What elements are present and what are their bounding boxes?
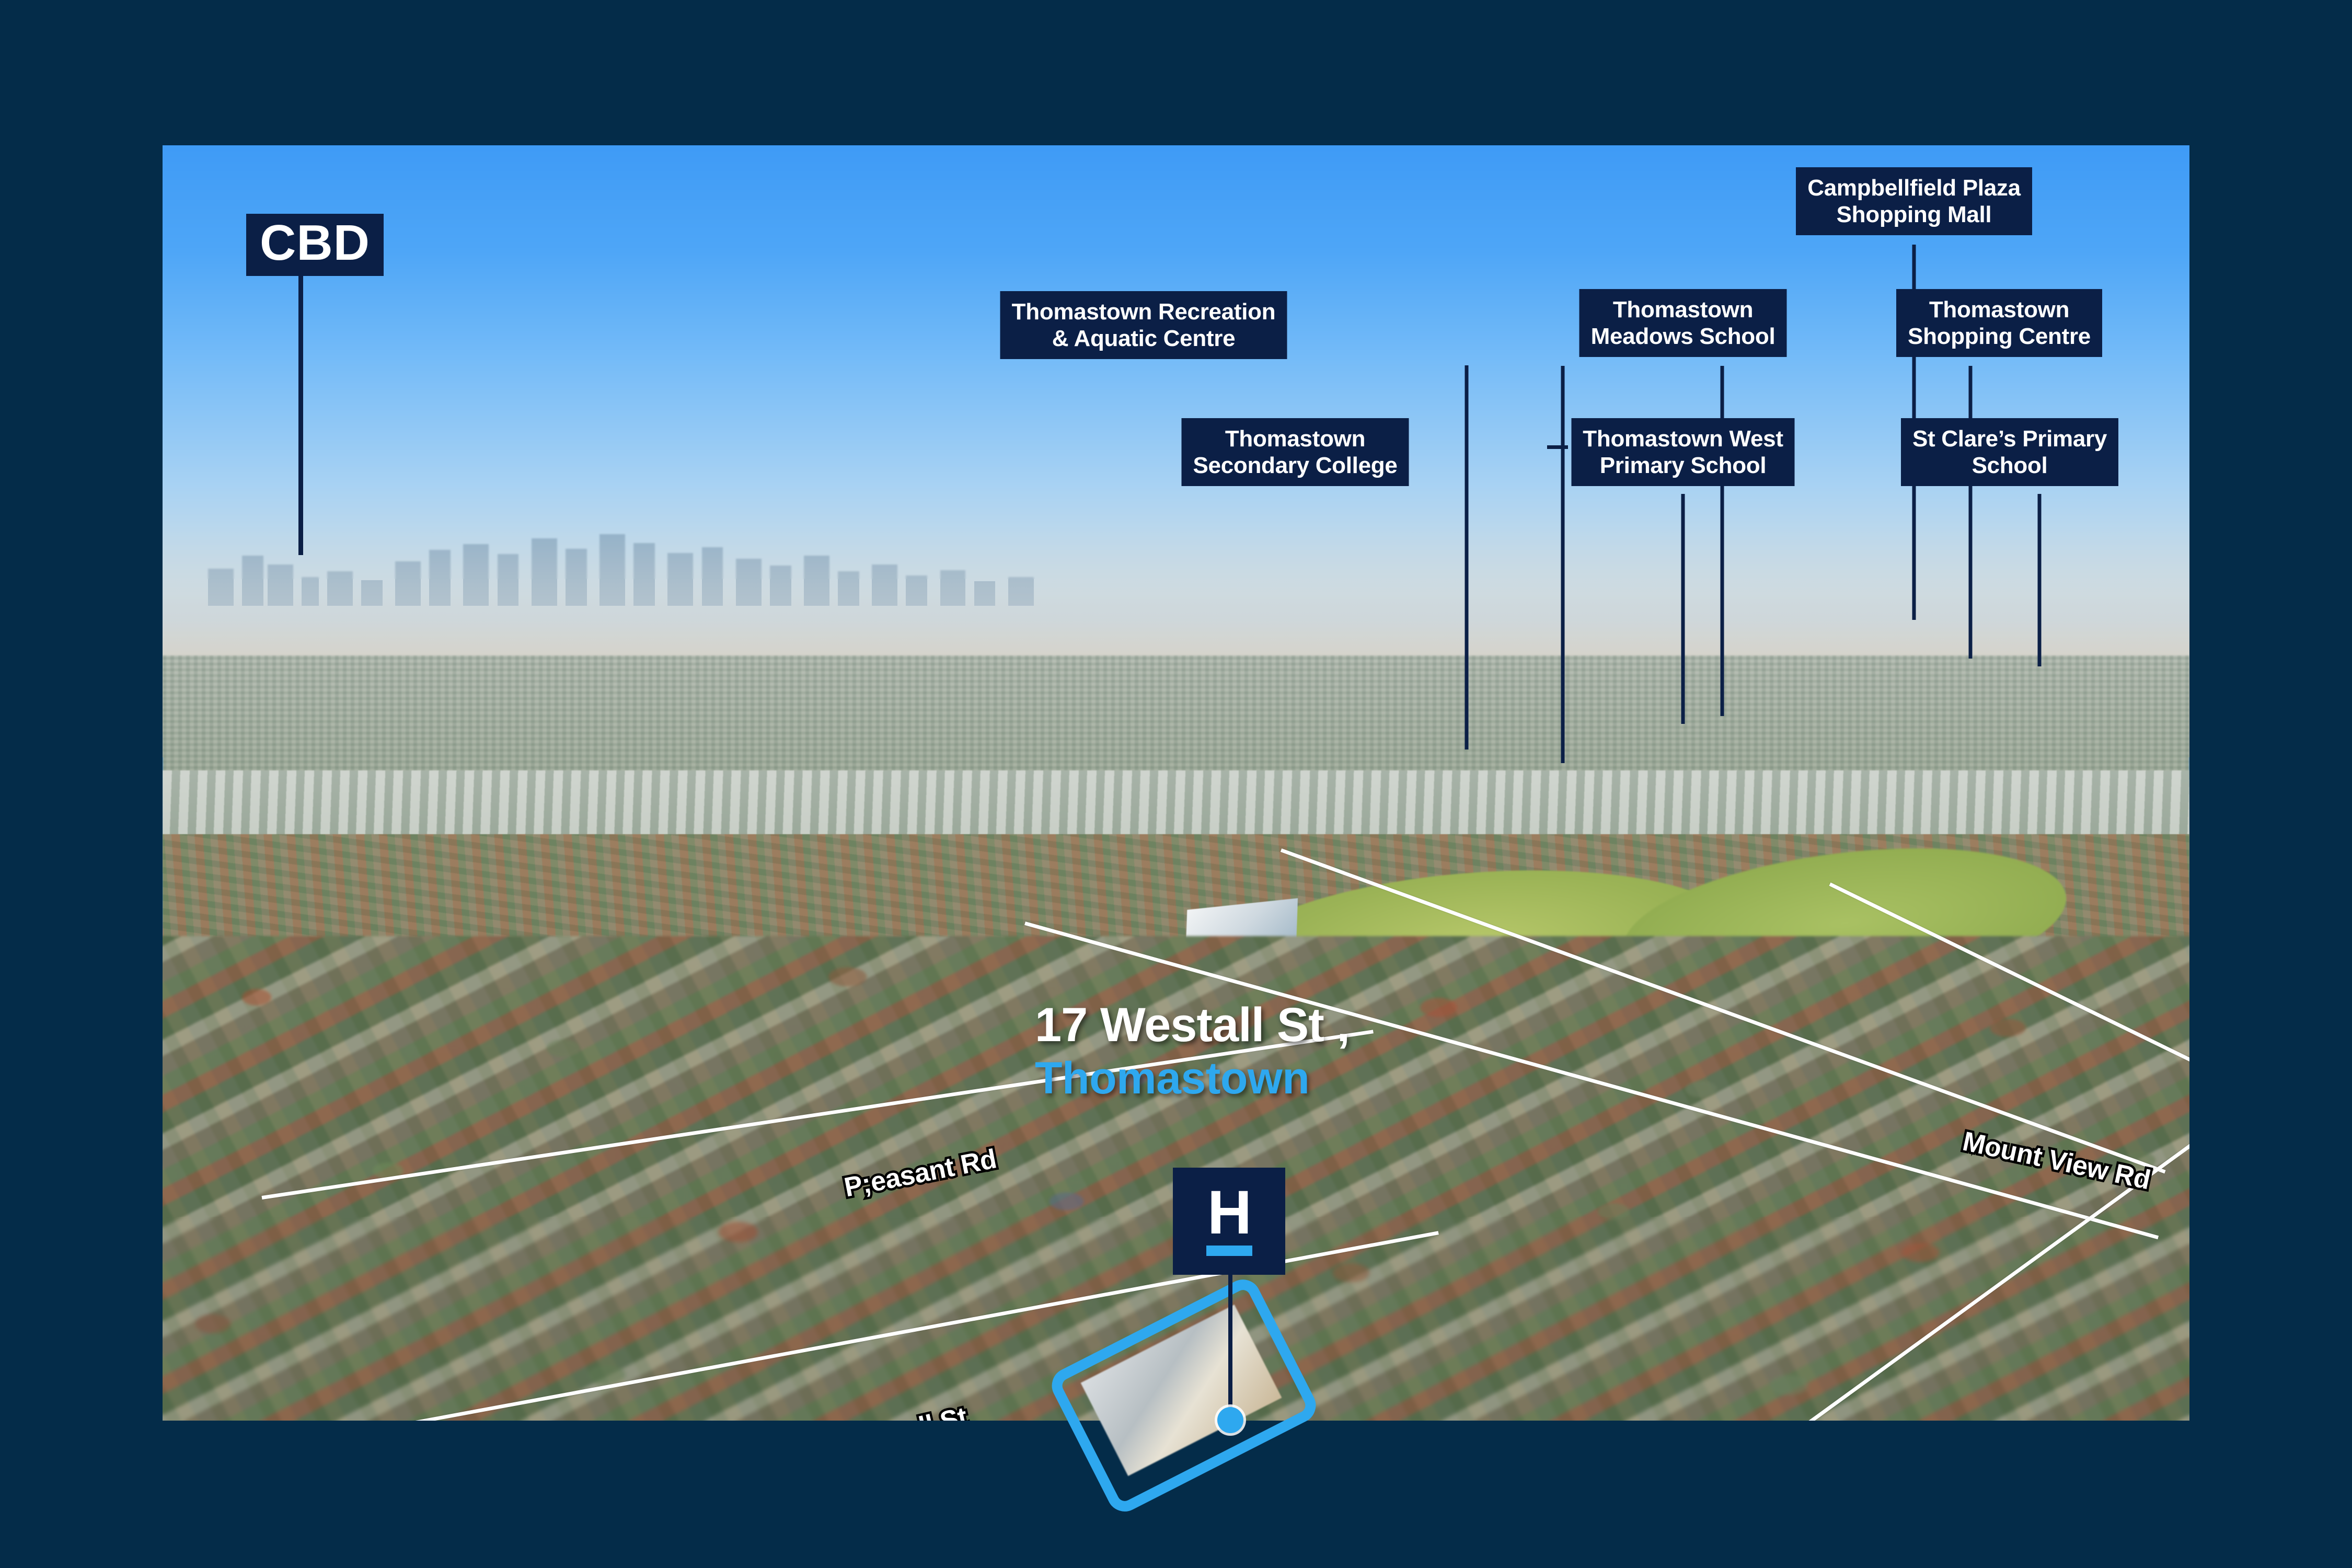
home-pin-dot <box>1217 1407 1243 1433</box>
property-suburb-line: Thomastown <box>1035 1053 1350 1103</box>
poi-label-thomastown-secondary-college[interactable]: Thomastown Secondary College <box>1181 418 1409 486</box>
property-address-line: 17 Westall St , <box>1035 1001 1350 1049</box>
outer-frame: P;easant RdChappell StMount View RdWesta… <box>0 0 2352 1568</box>
home-marker-letter: H <box>1207 1186 1251 1239</box>
poi-pin-stem <box>1969 366 1973 659</box>
poi-elbow-connector <box>1547 445 1568 449</box>
poi-pin-stem <box>1681 494 1685 724</box>
poi-label-thomastown-recreation-aquatic-centre[interactable]: Thomastown Recreation & Aquatic Centre <box>1000 291 1287 359</box>
poi-pin-stem <box>1561 366 1565 763</box>
poi-pin-stem <box>2038 494 2042 666</box>
home-marker[interactable]: H <box>1173 1168 1285 1275</box>
home-marker-accent-bar <box>1206 1246 1252 1256</box>
poi-pin-stem <box>1465 365 1469 750</box>
poi-label-thomastown-meadows-school[interactable]: Thomastown Meadows School <box>1579 289 1787 357</box>
poi-label-thomastown-shopping-centre[interactable]: Thomastown Shopping Centre <box>1896 289 2102 357</box>
cbd-label[interactable]: CBD <box>246 214 384 276</box>
poi-label-st-clares-primary-school[interactable]: St Clare’s Primary School <box>1901 418 2118 486</box>
cbd-pin-stem <box>298 275 303 555</box>
poi-label-thomastown-west-primary-school[interactable]: Thomastown West Primary School <box>1571 418 1794 486</box>
property-title: 17 Westall St , Thomastown <box>1035 1001 1350 1103</box>
poi-label-campbellfield-plaza-shopping-mall[interactable]: Campbellfield Plaza Shopping Mall <box>1796 167 2032 235</box>
